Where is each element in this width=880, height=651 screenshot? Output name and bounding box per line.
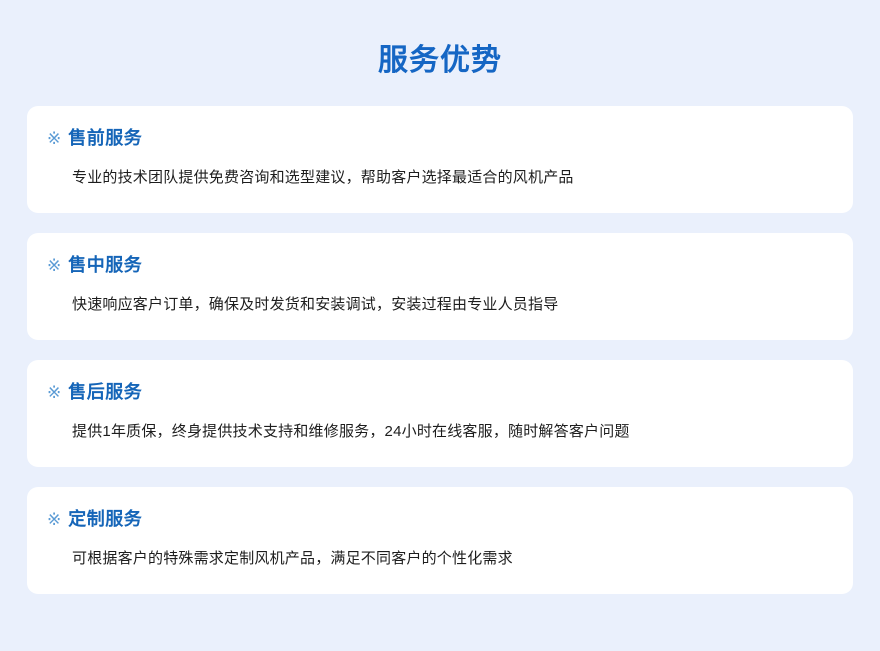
card-header: ※ 售前服务 xyxy=(47,126,829,151)
service-card-after-sales: ※ 售后服务 提供1年质保，终身提供技术支持和维修服务，24小时在线客服，随时解… xyxy=(27,360,853,467)
card-description: 专业的技术团队提供免费咨询和选型建议，帮助客户选择最适合的风机产品 xyxy=(72,167,829,189)
service-card-customization: ※ 定制服务 可根据客户的特殊需求定制风机产品，满足不同客户的个性化需求 xyxy=(27,487,853,594)
reference-mark-icon: ※ xyxy=(47,381,61,405)
service-card-during-sales: ※ 售中服务 快速响应客户订单，确保及时发货和安装调试，安装过程由专业人员指导 xyxy=(27,233,853,340)
card-title: 售后服务 xyxy=(68,380,142,404)
card-description: 可根据客户的特殊需求定制风机产品，满足不同客户的个性化需求 xyxy=(72,548,829,570)
card-header: ※ 售后服务 xyxy=(47,380,829,405)
reference-mark-icon: ※ xyxy=(47,508,61,532)
page-title: 服务优势 xyxy=(0,0,880,80)
card-title: 售前服务 xyxy=(68,126,142,150)
card-description: 快速响应客户订单，确保及时发货和安装调试，安装过程由专业人员指导 xyxy=(72,294,829,316)
card-header: ※ 售中服务 xyxy=(47,253,829,278)
service-card-list: ※ 售前服务 专业的技术团队提供免费咨询和选型建议，帮助客户选择最适合的风机产品… xyxy=(0,106,880,594)
reference-mark-icon: ※ xyxy=(47,254,61,278)
reference-mark-icon: ※ xyxy=(47,127,61,151)
service-advantages-page: 服务优势 ※ 售前服务 专业的技术团队提供免费咨询和选型建议，帮助客户选择最适合… xyxy=(0,0,880,651)
card-header: ※ 定制服务 xyxy=(47,507,829,532)
service-card-pre-sales: ※ 售前服务 专业的技术团队提供免费咨询和选型建议，帮助客户选择最适合的风机产品 xyxy=(27,106,853,213)
card-title: 定制服务 xyxy=(68,507,142,531)
card-description: 提供1年质保，终身提供技术支持和维修服务，24小时在线客服，随时解答客户问题 xyxy=(72,421,829,443)
card-title: 售中服务 xyxy=(68,253,142,277)
